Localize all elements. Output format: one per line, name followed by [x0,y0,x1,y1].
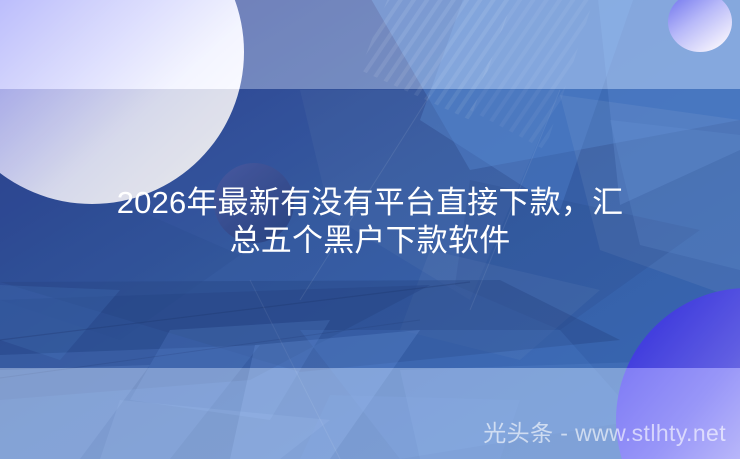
title-line-1: 2026年最新有没有平台直接下款，汇 [0,184,740,222]
site-watermark: 光头条 - www.stlhty.net [483,419,726,447]
title-line-2: 总五个黑户下款软件 [0,222,740,260]
poster-title: 2026年最新有没有平台直接下款，汇 总五个黑户下款软件 [0,184,740,260]
poster-canvas: 2026年最新有没有平台直接下款，汇 总五个黑户下款软件 光头条 - www.s… [0,0,740,459]
